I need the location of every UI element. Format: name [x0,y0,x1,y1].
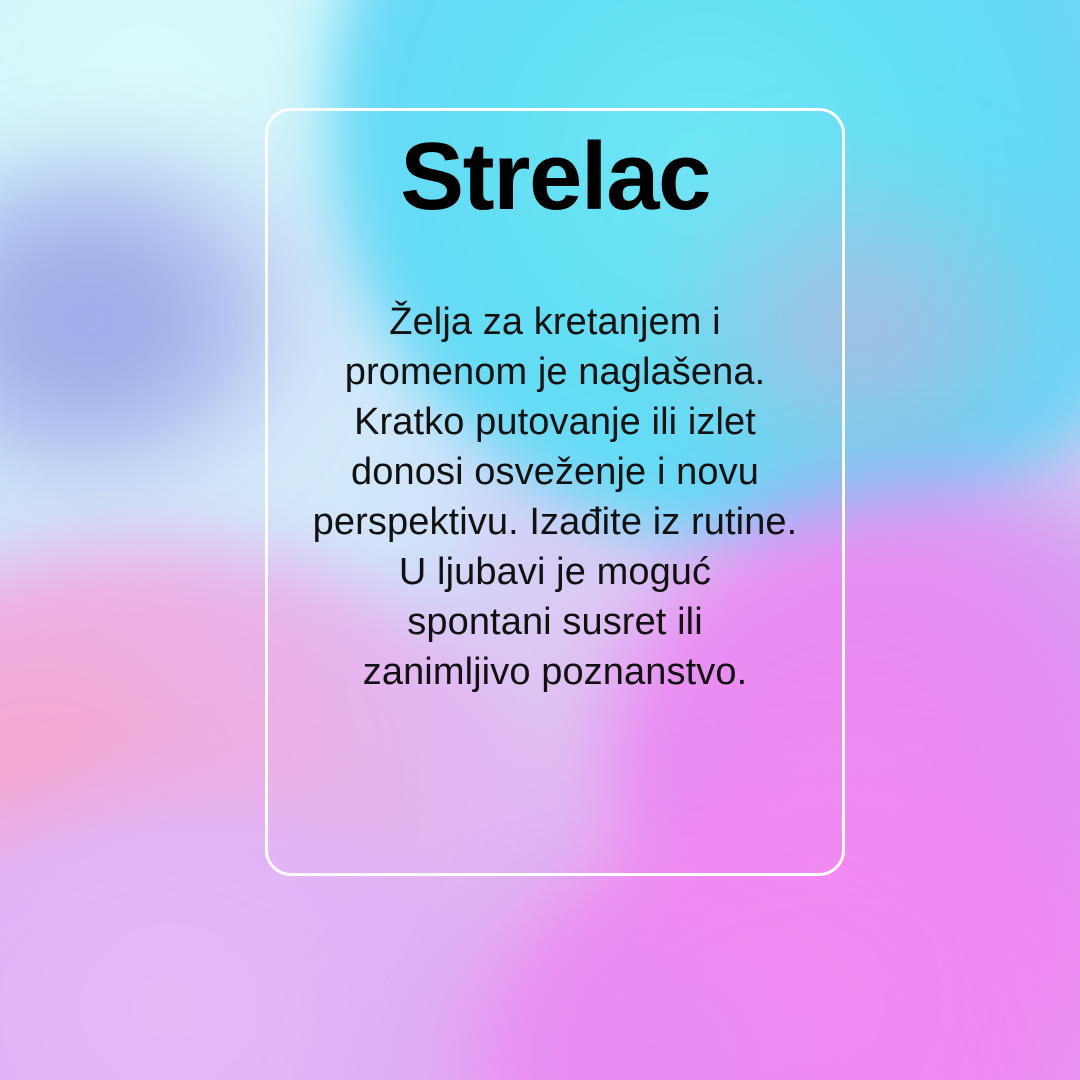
horoscope-line: Želja za kretanjem i [282,297,828,347]
background-blob-bottom-right-blue [840,460,1080,880]
background-blob-bottom-middle [330,910,970,1080]
horoscope-line: U ljubavi je moguć [282,547,828,597]
horoscope-line: Kratko putovanje ili izlet [282,397,828,447]
horoscope-line: zanimljivo poznanstvo. [282,647,828,697]
horoscope-card: Strelac Želja za kretanjem i promenom je… [265,108,845,876]
background-blob-periwinkle-pinch [0,150,300,490]
horoscope-line: promenom je naglašena. [282,347,828,397]
horoscope-text: Želja za kretanjem i promenom je naglaše… [282,297,828,697]
horoscope-line: perspektivu. Izađite iz rutine. [282,497,828,547]
horoscope-line: spontani susret ili [282,597,828,647]
horoscope-line: donosi osveženje i novu [282,447,828,497]
zodiac-sign-title: Strelac [268,129,842,225]
horoscope-poster: Strelac Želja za kretanjem i promenom je… [0,0,1080,1080]
